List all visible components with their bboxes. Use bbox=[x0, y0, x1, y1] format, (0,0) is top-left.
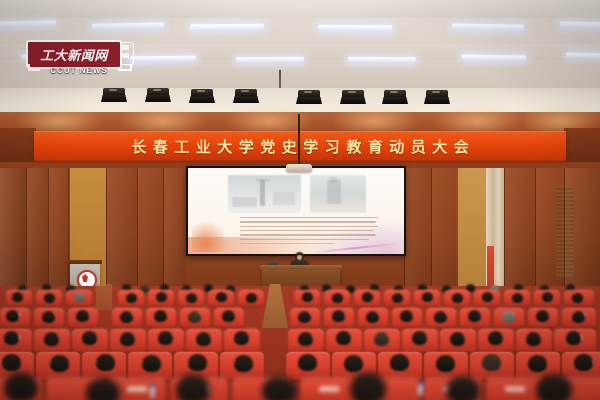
attendee-head bbox=[246, 293, 257, 303]
wall-panel bbox=[26, 168, 48, 293]
attendee-head bbox=[468, 310, 481, 322]
attendee-head bbox=[12, 292, 23, 302]
event-banner: 长春工业大学党史学习教育动员大会 bbox=[34, 131, 566, 161]
water-bottle bbox=[418, 382, 423, 396]
attendee-head bbox=[176, 374, 210, 400]
attendee-head bbox=[446, 376, 480, 400]
watermark-chinese-text: 工大新闻网 bbox=[40, 45, 108, 64]
attendee-head bbox=[120, 311, 133, 323]
wall-strip-light bbox=[458, 168, 486, 290]
attendee-head bbox=[156, 292, 167, 302]
ceiling-light bbox=[348, 57, 416, 62]
wall-panel bbox=[107, 168, 137, 293]
slide-decoration-swirl bbox=[313, 220, 404, 254]
stage-spotlight bbox=[101, 88, 127, 104]
attendee-head bbox=[374, 332, 389, 346]
banner-left-wall bbox=[0, 128, 36, 162]
audience-area bbox=[0, 286, 600, 400]
attendee-head bbox=[366, 311, 379, 323]
ceiling-light bbox=[318, 25, 392, 32]
attendee-head bbox=[344, 355, 363, 372]
slide-decoration-torch bbox=[192, 221, 227, 252]
stage-spotlight bbox=[189, 89, 215, 105]
stage-spotlight bbox=[296, 90, 322, 106]
watermark-rule-right-tick bbox=[130, 64, 132, 71]
attendee-head bbox=[4, 372, 38, 400]
attendee-head bbox=[332, 293, 343, 303]
attendee-head bbox=[234, 331, 249, 345]
attendee-head bbox=[50, 355, 69, 372]
ceiling-light bbox=[236, 57, 304, 62]
attendee-head bbox=[6, 310, 19, 322]
auditorium-screenshot: 长春工业大学党史学习教育动员大会 bbox=[0, 0, 600, 400]
attendee-head bbox=[572, 311, 585, 323]
attendee-head bbox=[482, 292, 493, 302]
attendee-head bbox=[234, 355, 253, 372]
attendee-head bbox=[434, 311, 447, 323]
attendee-head bbox=[488, 331, 503, 345]
attendee-head bbox=[188, 311, 201, 323]
attendee-head bbox=[120, 332, 135, 346]
attendee-head bbox=[332, 310, 345, 322]
ceiling-projector bbox=[286, 160, 312, 172]
attendee-head bbox=[142, 355, 161, 372]
attendee-head bbox=[572, 293, 583, 303]
attendee-head bbox=[44, 332, 59, 346]
left-aisle bbox=[96, 284, 112, 310]
watermark-english-text: CCUT NEWS bbox=[36, 64, 122, 76]
wall-panel bbox=[48, 168, 68, 293]
attendee-head bbox=[350, 372, 386, 400]
attendee-head bbox=[298, 332, 313, 346]
slide-photo-monument bbox=[227, 174, 302, 214]
water-bottle bbox=[150, 384, 155, 398]
slide-text-line bbox=[240, 217, 378, 218]
ceiling-light bbox=[92, 22, 164, 29]
ceiling-light bbox=[0, 20, 56, 28]
wall-panel bbox=[0, 168, 26, 293]
stage-spotlight bbox=[340, 90, 366, 106]
attendee-head bbox=[436, 355, 455, 372]
attendee-head bbox=[222, 310, 235, 322]
wall-panel bbox=[565, 168, 600, 293]
attendee-head bbox=[362, 292, 373, 302]
attendee-head bbox=[262, 376, 296, 400]
attendee-head bbox=[298, 311, 311, 323]
attendee-head bbox=[536, 374, 572, 400]
banner-right-wall bbox=[564, 128, 600, 162]
attendee-head bbox=[82, 331, 97, 345]
attendee-head bbox=[574, 354, 593, 371]
attendee-head bbox=[76, 310, 89, 322]
stage-spotlight bbox=[424, 90, 450, 106]
ceiling-light bbox=[190, 24, 264, 31]
wall-panel bbox=[432, 168, 456, 293]
side-sign bbox=[487, 246, 494, 290]
center-aisle bbox=[262, 284, 288, 328]
attendee-head bbox=[154, 310, 167, 322]
wall-panel bbox=[505, 168, 535, 293]
attendee-head bbox=[542, 292, 553, 302]
attendee-head bbox=[44, 293, 55, 303]
attendee-head bbox=[188, 354, 207, 371]
wall-panel bbox=[164, 168, 186, 293]
attendee-head bbox=[566, 331, 581, 345]
attendee-head bbox=[2, 354, 21, 371]
stage-spotlight bbox=[145, 88, 171, 104]
attendee-head bbox=[390, 354, 409, 371]
wall-panel bbox=[137, 168, 163, 293]
attendee-head bbox=[216, 292, 227, 302]
attendee-head bbox=[42, 311, 55, 323]
attendee-head bbox=[96, 354, 115, 371]
projection-screen bbox=[186, 166, 406, 256]
ceiling-light bbox=[130, 56, 196, 62]
attendee-head bbox=[450, 332, 465, 346]
attendee-head bbox=[298, 354, 317, 371]
ceiling-light bbox=[560, 21, 600, 28]
attendee-head bbox=[126, 293, 137, 303]
attendee-head bbox=[512, 293, 523, 303]
ceiling-band bbox=[0, 0, 600, 18]
attendee-head bbox=[186, 293, 197, 303]
slide-photo-person bbox=[309, 174, 367, 214]
attendee-head bbox=[196, 332, 211, 346]
ceiling-light bbox=[452, 23, 524, 30]
wall-panel bbox=[405, 168, 431, 293]
attendee-head bbox=[392, 293, 403, 303]
attendee-head bbox=[452, 293, 463, 303]
slide-surface bbox=[188, 168, 404, 254]
watermark-rule-left-tick bbox=[28, 64, 30, 71]
stage-spotlight bbox=[233, 89, 259, 105]
watermark-logo: 工大新闻网 CCUT NEWS bbox=[26, 40, 138, 76]
attendee-head bbox=[528, 355, 547, 372]
attendee-head bbox=[412, 331, 427, 345]
stage-spotlight bbox=[382, 90, 408, 106]
attendee-head bbox=[302, 292, 313, 302]
attendee-head bbox=[336, 331, 351, 345]
attendee-head bbox=[526, 332, 541, 346]
attendee-head bbox=[158, 331, 173, 345]
attendee-head bbox=[86, 378, 120, 400]
watermark-tab-icon bbox=[120, 42, 134, 65]
attendee-head bbox=[536, 310, 549, 322]
attendee-head bbox=[482, 354, 501, 371]
ceiling-light bbox=[566, 53, 600, 59]
attendee-head bbox=[422, 292, 433, 302]
attendee-head bbox=[502, 311, 515, 323]
ceiling-light bbox=[462, 55, 526, 61]
attendee-head bbox=[4, 331, 19, 345]
attendee-head bbox=[400, 310, 413, 322]
attendee-head bbox=[74, 292, 85, 302]
